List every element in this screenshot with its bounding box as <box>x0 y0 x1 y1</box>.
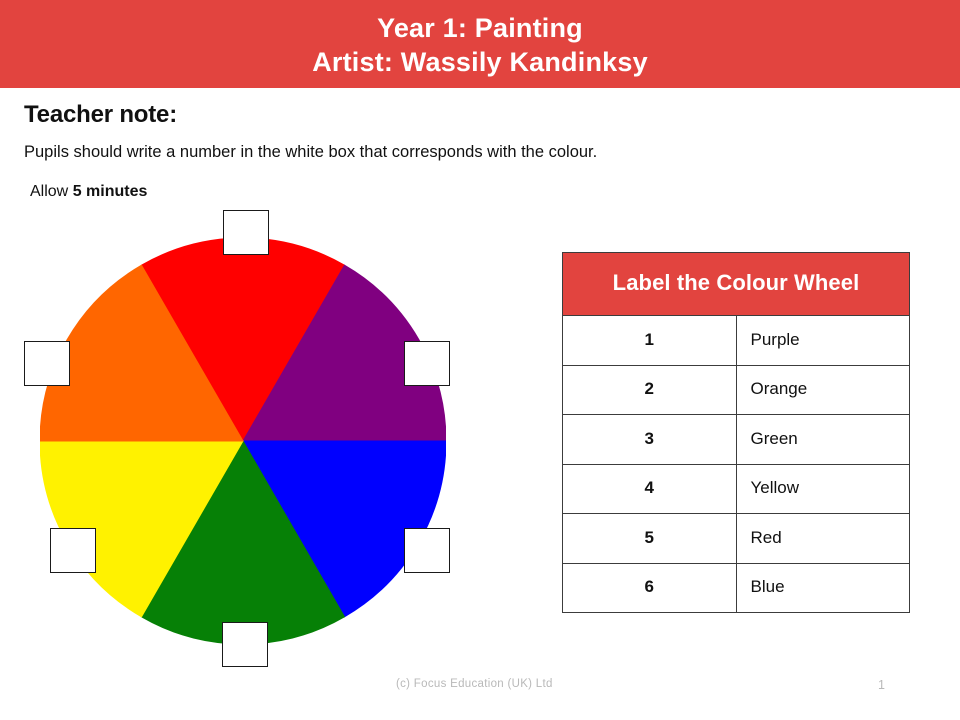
table-row: 6Blue <box>563 563 910 613</box>
footer-copyright: (c) Focus Education (UK) Ltd <box>396 678 553 690</box>
colour-wheel-area <box>0 200 500 680</box>
table-cell-number: 5 <box>563 514 737 564</box>
table-cell-number: 3 <box>563 415 737 465</box>
table-cell-colour: Red <box>736 514 910 564</box>
answer-box-left[interactable] <box>24 341 70 386</box>
table-row: 2Orange <box>563 365 910 415</box>
table-row: 3Green <box>563 415 910 465</box>
table-cell-colour: Yellow <box>736 464 910 514</box>
teacher-note-block: Teacher note: Pupils should write a numb… <box>24 100 624 202</box>
colour-key-table: Label the Colour Wheel 1Purple2Orange3Gr… <box>562 252 910 613</box>
table-header: Label the Colour Wheel <box>563 253 910 316</box>
answer-box-top[interactable] <box>223 210 269 255</box>
table-row: 5Red <box>563 514 910 564</box>
colour-wheel-graphic <box>40 238 446 644</box>
allow-duration: 5 minutes <box>73 183 148 200</box>
table-cell-number: 2 <box>563 365 737 415</box>
answer-box-bottom-left[interactable] <box>50 528 96 573</box>
table-title: Label the Colour Wheel <box>563 253 910 316</box>
header-title-line-1: Year 1: Painting <box>377 11 583 45</box>
table-cell-number: 6 <box>563 563 737 613</box>
table-cell-colour: Blue <box>736 563 910 613</box>
footer: (c) Focus Education (UK) Ltd 1 <box>0 678 960 702</box>
allow-prefix: Allow <box>30 183 73 200</box>
table-cell-colour: Purple <box>736 316 910 366</box>
table-cell-number: 1 <box>563 316 737 366</box>
footer-page-number: 1 <box>878 678 885 692</box>
header-title-line-2: Artist: Wassily Kandinksy <box>312 45 648 79</box>
teacher-note-body: Pupils should write a number in the whit… <box>24 142 609 163</box>
table-row: 1Purple <box>563 316 910 366</box>
teacher-note-heading: Teacher note: <box>24 100 624 130</box>
table-body: 1Purple2Orange3Green4Yellow5Red6Blue <box>563 316 910 613</box>
answer-box-right[interactable] <box>404 341 450 386</box>
table-cell-colour: Green <box>736 415 910 465</box>
table-row: 4Yellow <box>563 464 910 514</box>
table-header-row: Label the Colour Wheel <box>563 253 910 316</box>
answer-box-bottom[interactable] <box>222 622 268 667</box>
table-cell-number: 4 <box>563 464 737 514</box>
teacher-note-allow-line: Allow 5 minutes <box>30 181 624 202</box>
answer-box-bottom-right[interactable] <box>404 528 450 573</box>
table-cell-colour: Orange <box>736 365 910 415</box>
header-banner: Year 1: Painting Artist: Wassily Kandink… <box>0 0 960 88</box>
